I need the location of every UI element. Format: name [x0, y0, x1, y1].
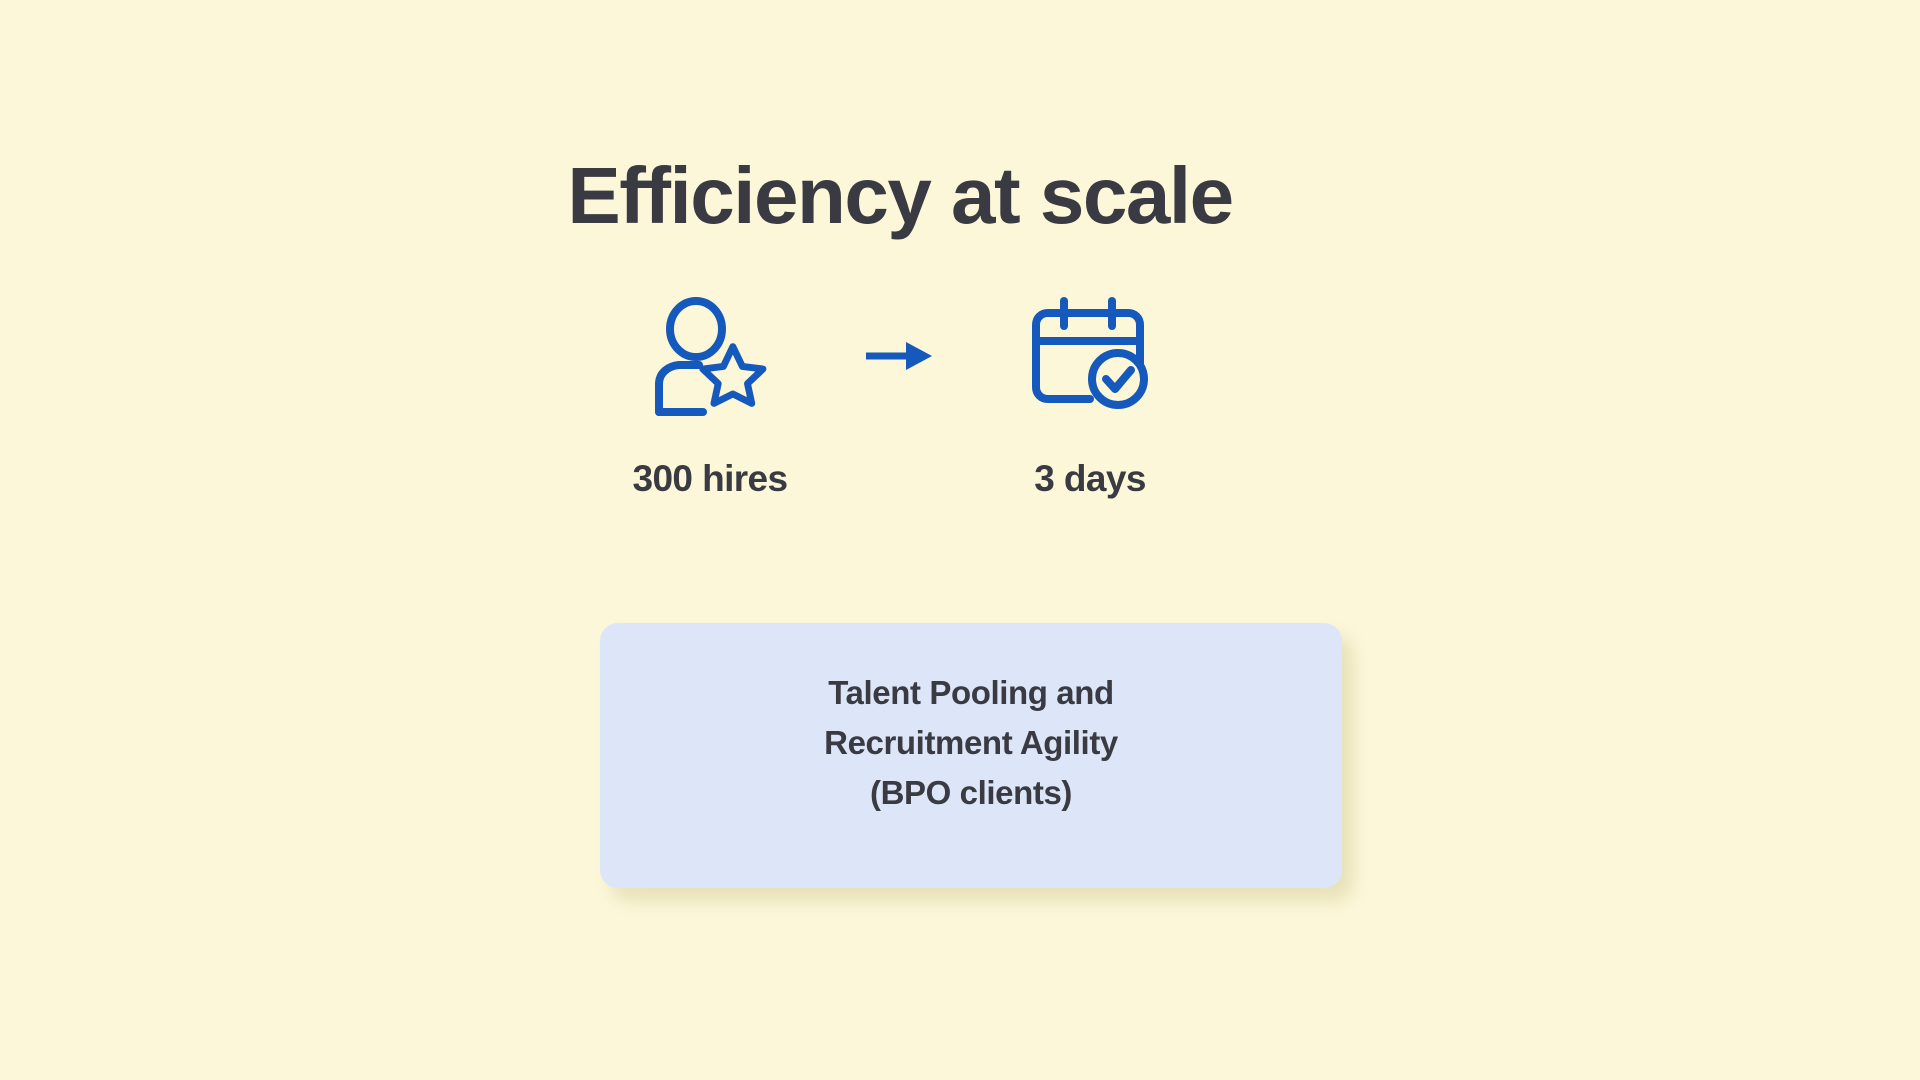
highlight-card-text: Talent Pooling and Recruitment Agility (… [661, 668, 1281, 888]
person-star-icon [646, 296, 774, 416]
card-line-2: Recruitment Agility [661, 718, 1281, 768]
metric-hires-label: 300 hires [632, 458, 787, 500]
slide-canvas: Efficiency at scale 300 hires [0, 0, 1920, 1080]
metric-days-label: 3 days [1034, 458, 1146, 500]
arrow-right-icon [835, 296, 965, 416]
metric-days: 3 days [965, 296, 1215, 500]
metric-hires: 300 hires [585, 296, 835, 500]
calendar-check-icon [1028, 296, 1152, 416]
card-line-1: Talent Pooling and [661, 668, 1281, 718]
card-line-3: (BPO clients) [661, 768, 1281, 818]
metrics-row: 300 hires 3 days [0, 296, 1800, 500]
page-title: Efficiency at scale [0, 150, 1800, 242]
highlight-card: Talent Pooling and Recruitment Agility (… [600, 623, 1342, 888]
